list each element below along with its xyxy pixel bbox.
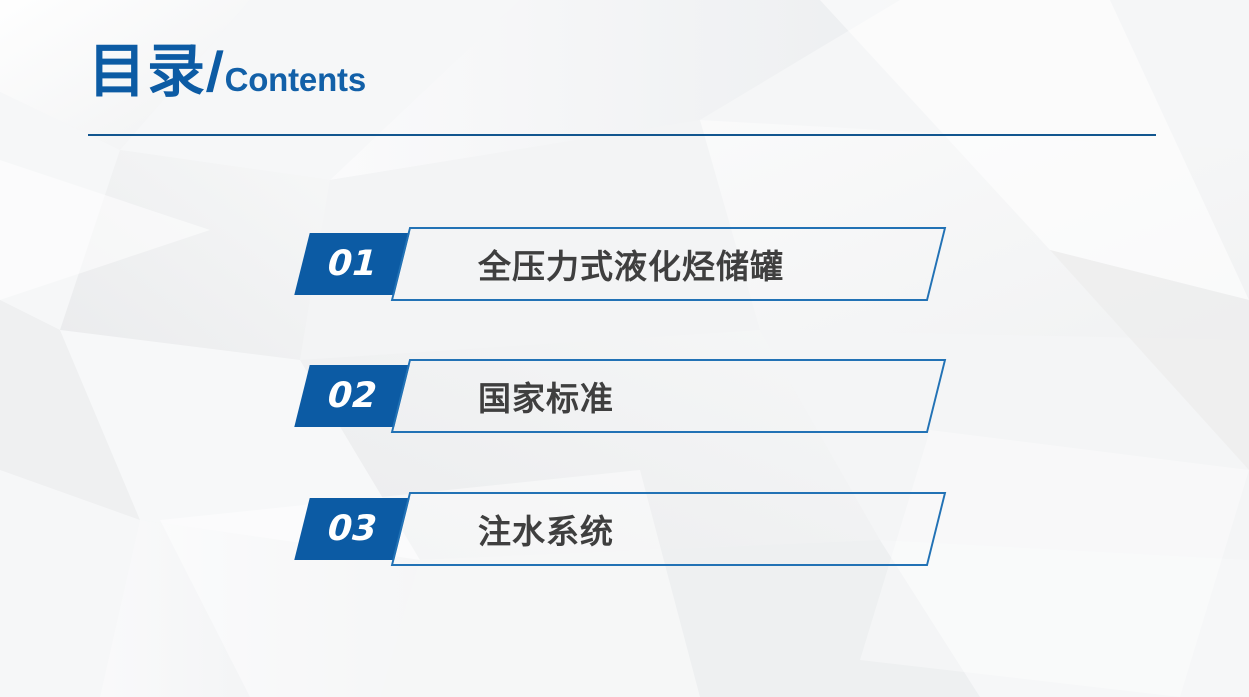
contents-item-01[interactable]: 01 全压力式液化烃储罐 <box>0 227 1249 301</box>
contents-item-number: 03 <box>294 498 409 560</box>
contents-item-03[interactable]: 03 注水系统 <box>0 492 1249 566</box>
contents-item-frame <box>391 492 946 566</box>
contents-item-label: 全压力式液化烃储罐 <box>478 227 784 301</box>
contents-item-frame <box>391 359 946 433</box>
contents-item-label: 注水系统 <box>478 492 614 566</box>
contents-item-number: 01 <box>294 233 409 295</box>
contents-item-02[interactable]: 02 国家标准 <box>0 359 1249 433</box>
contents-item-label: 国家标准 <box>478 359 614 433</box>
slide-root: 目录 / Contents 01 全压力式液化烃储罐 02 国家标准 03 注水… <box>0 0 1249 697</box>
contents-list: 01 全压力式液化烃储罐 02 国家标准 03 注水系统 <box>0 0 1249 697</box>
contents-item-number: 02 <box>294 365 409 427</box>
